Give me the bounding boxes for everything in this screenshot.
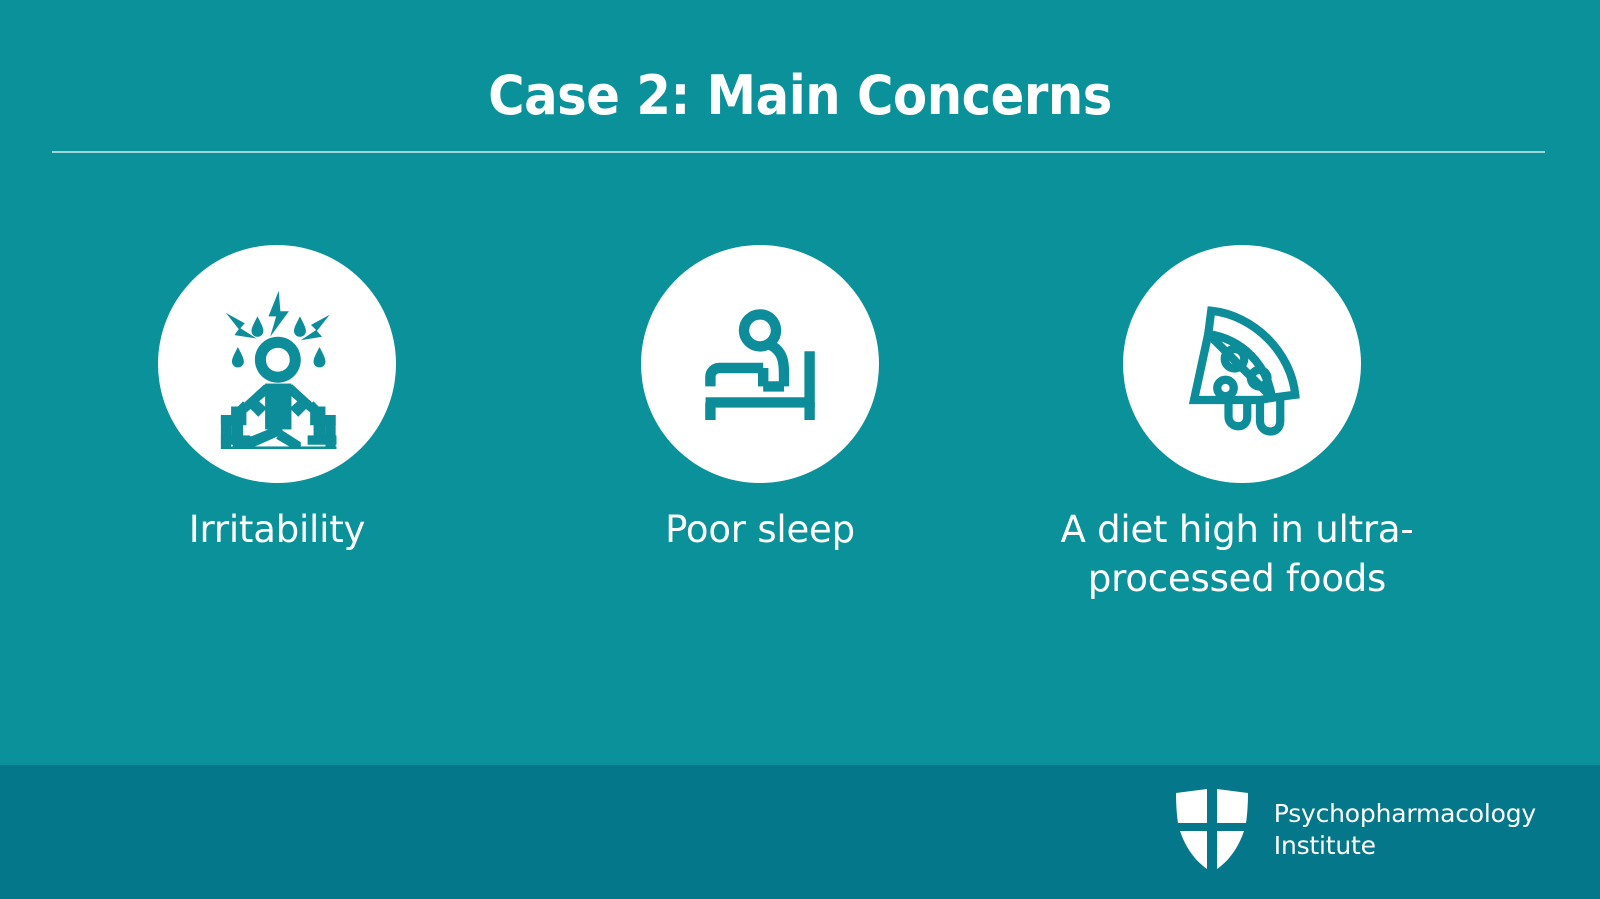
concept-label-diet: A diet high in ultra-processed foods [1027,505,1447,603]
icon-circle-irritability [158,245,396,483]
concept-label-irritability: Irritability [77,505,477,554]
title-divider [52,151,1545,153]
icon-circle-diet [1123,245,1361,483]
slide-root: Case 2: Main Concerns [0,0,1600,899]
concept-item-poor-sleep: Poor sleep [560,245,960,554]
concept-item-irritability: Irritability [77,245,477,554]
page-title: Case 2: Main Concerns [64,68,1536,125]
brand-name: Psychopharmacology Institute [1274,798,1536,862]
pizza-slice-icon [1167,289,1317,439]
irritable-person-in-armchair-icon [192,279,362,449]
shield-logo-icon [1174,787,1250,873]
brand-lockup: Psychopharmacology Institute [1174,775,1536,885]
concept-item-diet: A diet high in ultra-processed foods [1042,245,1442,603]
person-sitting-up-in-bed-icon [680,284,840,444]
icon-circle-poor-sleep [641,245,879,483]
brand-line-2: Institute [1274,830,1536,862]
concept-label-poor-sleep: Poor sleep [560,505,960,554]
brand-line-1: Psychopharmacology [1274,798,1536,830]
footer-bar: Psychopharmacology Institute [0,765,1600,899]
